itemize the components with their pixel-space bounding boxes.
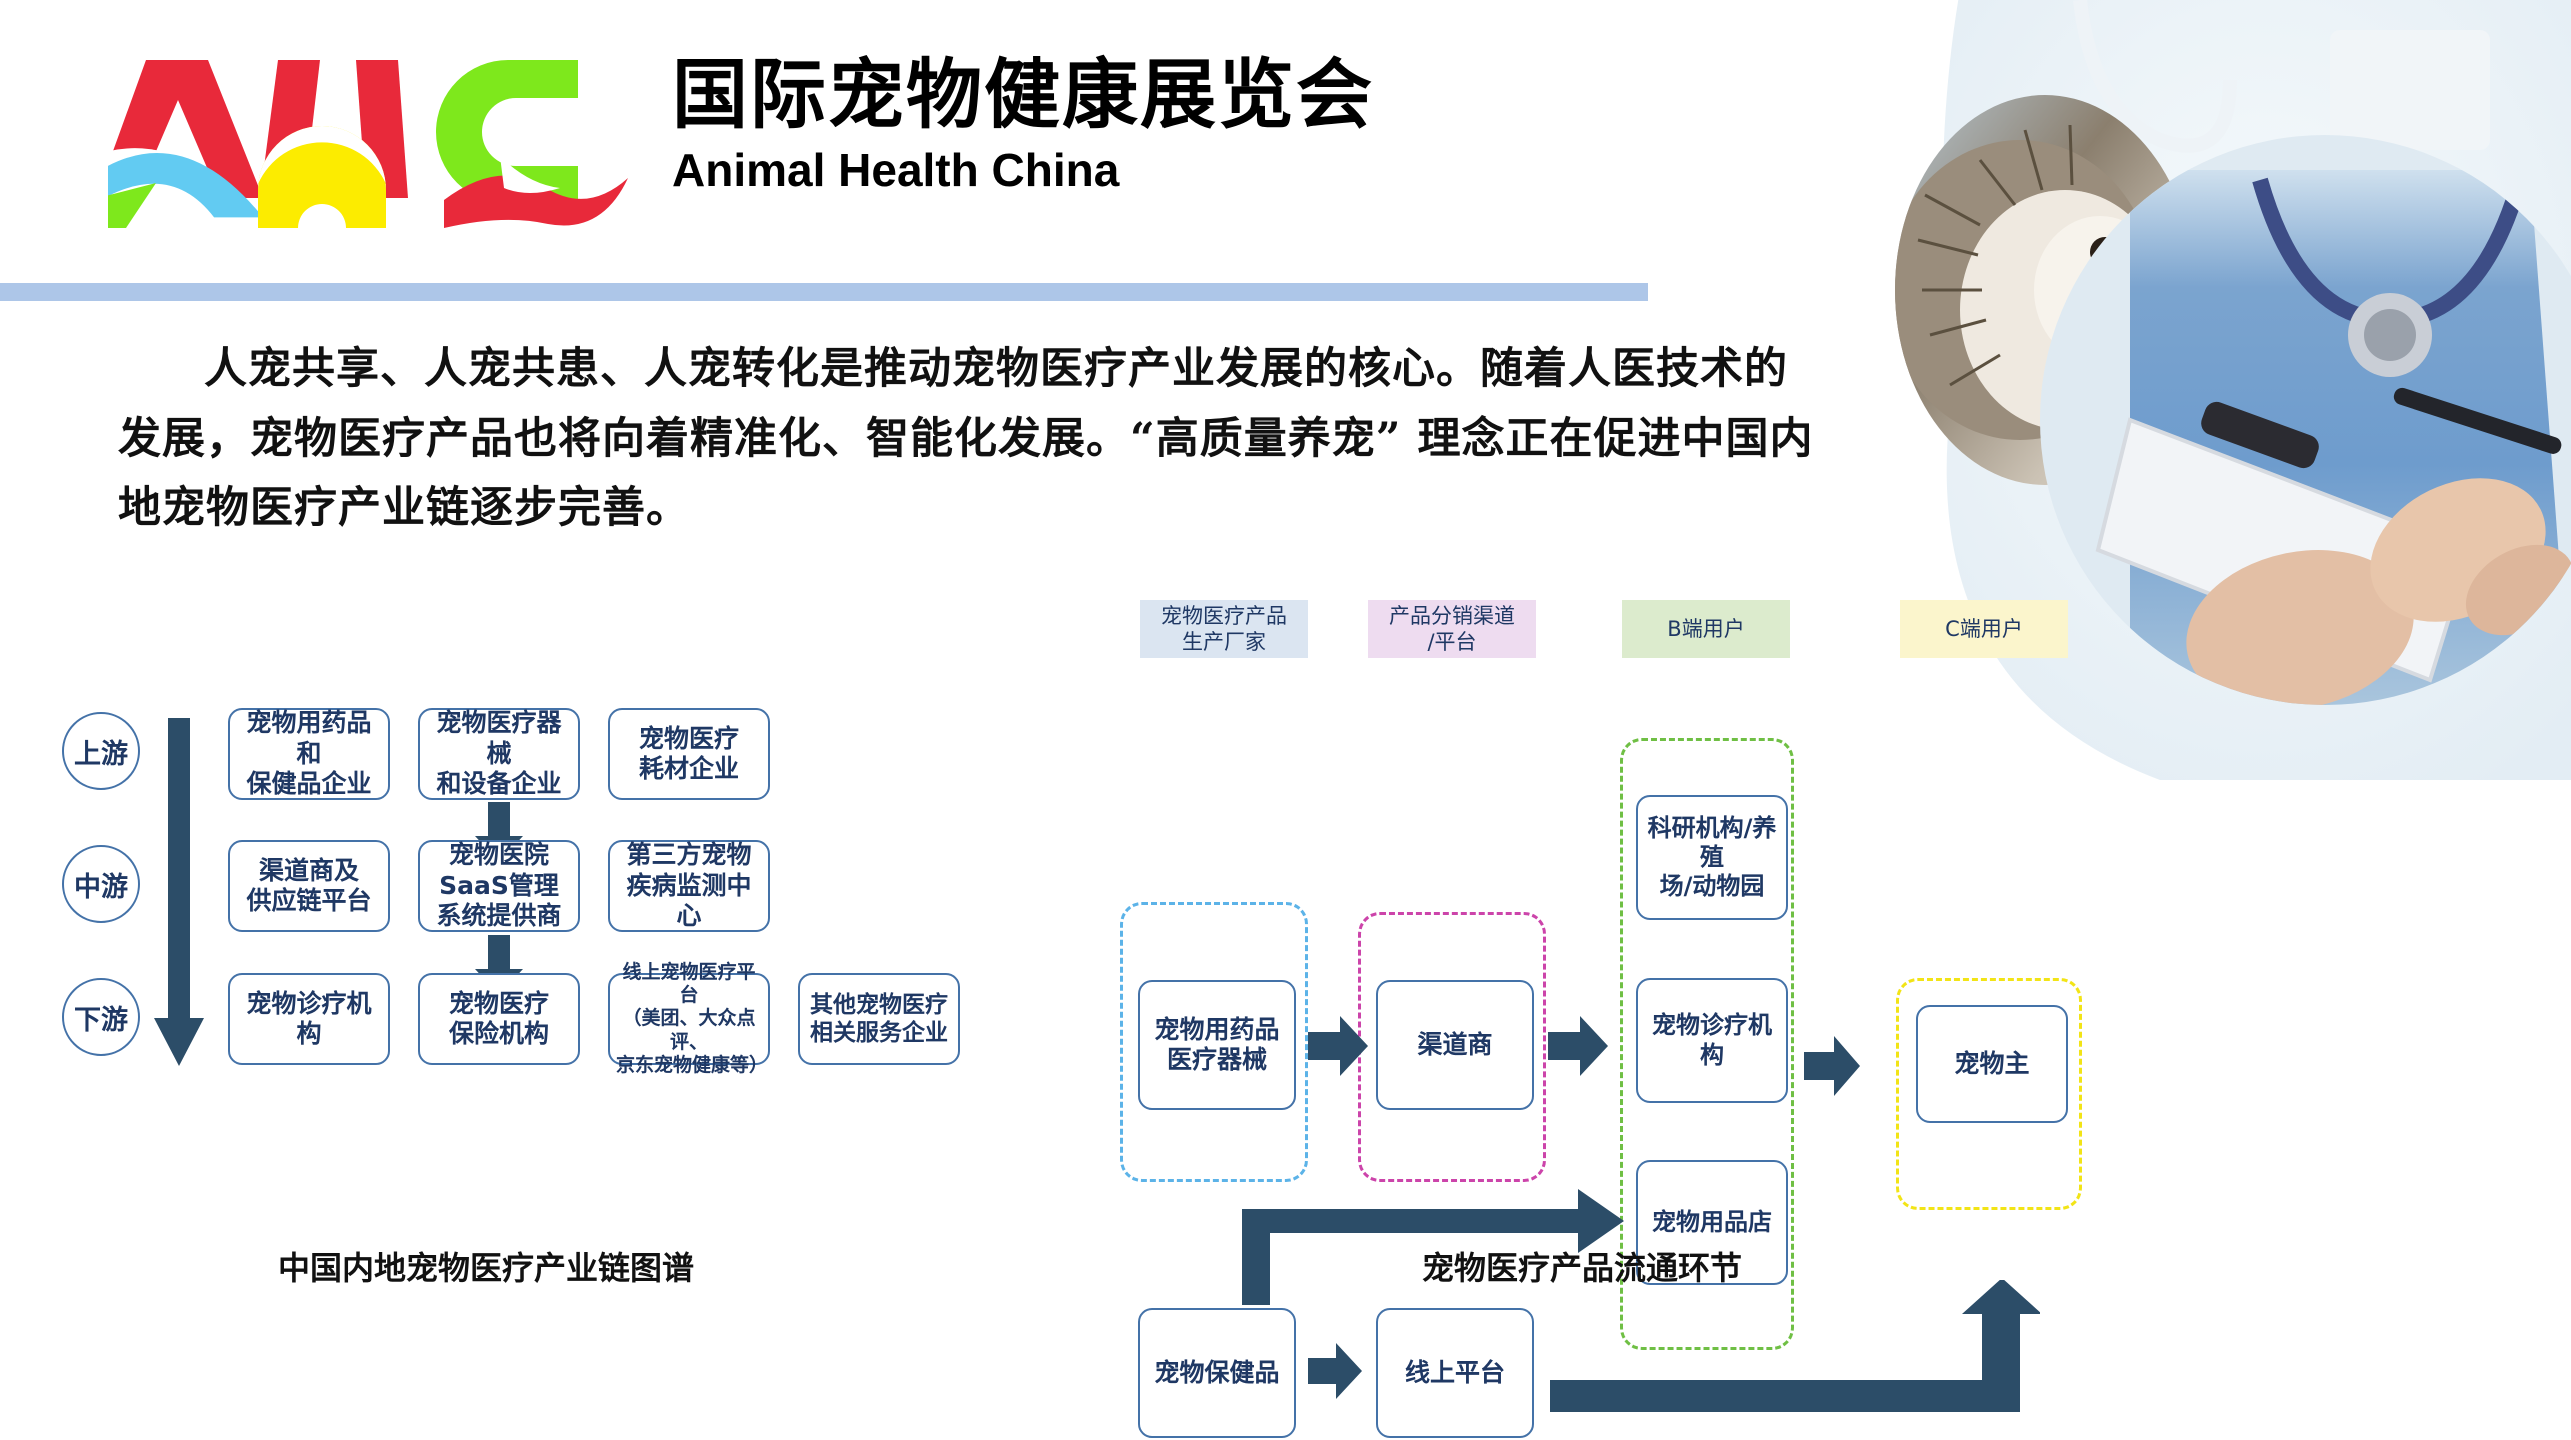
node-mfg-drug[interactable]: 宠物用药品 医疗器械 <box>1138 980 1296 1110</box>
node-mid-2[interactable]: 宠物医院 SaaS管理 系统提供商 <box>418 840 580 932</box>
node-down-4[interactable]: 其他宠物医疗 相关服务企业 <box>798 973 960 1065</box>
arrow-mfgdrug-to-dealer <box>1308 1010 1370 1082</box>
node-c-owner[interactable]: 宠物主 <box>1916 1005 2068 1123</box>
node-b-research[interactable]: 科研机构/养殖 场/动物园 <box>1636 795 1788 920</box>
page-title-cn: 国际宠物健康展览会 <box>672 55 1374 135</box>
intro-paragraph: 人宠共享、人宠共患、人宠转化是推动宠物医疗产业发展的核心。随着人医技术的发展，宠… <box>118 335 1818 544</box>
node-mid-3[interactable]: 第三方宠物 疾病监测中心 <box>608 840 770 932</box>
page-title-en: Animal Health China <box>672 143 1374 198</box>
stage-circle-downstream: 下游 <box>62 978 140 1056</box>
header-divider <box>0 283 1648 301</box>
node-mid-1[interactable]: 渠道商及 供应链平台 <box>228 840 390 932</box>
node-b-clinic[interactable]: 宠物诊疗机构 <box>1636 978 1788 1103</box>
right-diagram-caption: 宠物医疗产品流通环节 <box>1422 1243 1742 1289</box>
downstream-flow-arrow <box>150 718 210 1078</box>
arrow-online-to-cowner <box>1550 1280 2040 1440</box>
arrow-dealer-to-buser <box>1548 1010 1610 1082</box>
cat-header-channel: 产品分销渠道 /平台 <box>1368 600 1536 658</box>
arrow-buser-to-cowner <box>1804 1030 1862 1102</box>
title-block: 国际宠物健康展览会 Animal Health China <box>672 55 1374 198</box>
node-down-2[interactable]: 宠物医疗 保险机构 <box>418 973 580 1065</box>
node-up-3[interactable]: 宠物医疗 耗材企业 <box>608 708 770 800</box>
page-header: 国际宠物健康展览会 Animal Health China <box>0 0 2571 300</box>
node-up-1[interactable]: 宠物用药品和 保健品企业 <box>228 708 390 800</box>
node-ch-online[interactable]: 线上平台 <box>1376 1308 1534 1438</box>
node-mfg-health[interactable]: 宠物保健品 <box>1138 1308 1296 1438</box>
ahc-logo <box>108 38 628 228</box>
left-diagram-caption: 中国内地宠物医疗产业链图谱 <box>278 1243 694 1289</box>
cat-header-manufacturer: 宠物医疗产品 生产厂家 <box>1140 600 1308 658</box>
node-down-3[interactable]: 线上宠物医疗平台 （美团、大众点评、 京东宠物健康等） <box>608 973 770 1065</box>
stage-label: 上游 <box>74 732 128 771</box>
node-down-1[interactable]: 宠物诊疗机构 <box>228 973 390 1065</box>
cat-header-b-user: B端用户 <box>1622 600 1790 658</box>
intro-highlight: “高质量养宠” <box>1130 414 1401 464</box>
stage-circle-midstream: 中游 <box>62 845 140 923</box>
arrow-mfghealth-to-online <box>1308 1338 1364 1404</box>
ahc-logo-svg <box>108 38 628 228</box>
left-diagram: 上游 中游 下游 宠物用药品和 保健品企业 宠物医疗器械 和设备企业 宠物医疗 … <box>0 690 1100 1120</box>
stage-label: 下游 <box>74 998 128 1037</box>
stage-circle-upstream: 上游 <box>62 712 140 790</box>
right-diagram: 宠物医疗产品 生产厂家 产品分销渠道 /平台 B端用户 C端用户 宠物用药品 医… <box>1120 590 2120 1190</box>
node-up-2[interactable]: 宠物医疗器械 和设备企业 <box>418 708 580 800</box>
stage-label: 中游 <box>74 865 128 904</box>
node-ch-dealer[interactable]: 渠道商 <box>1376 980 1534 1110</box>
cat-header-c-user: C端用户 <box>1900 600 2068 658</box>
